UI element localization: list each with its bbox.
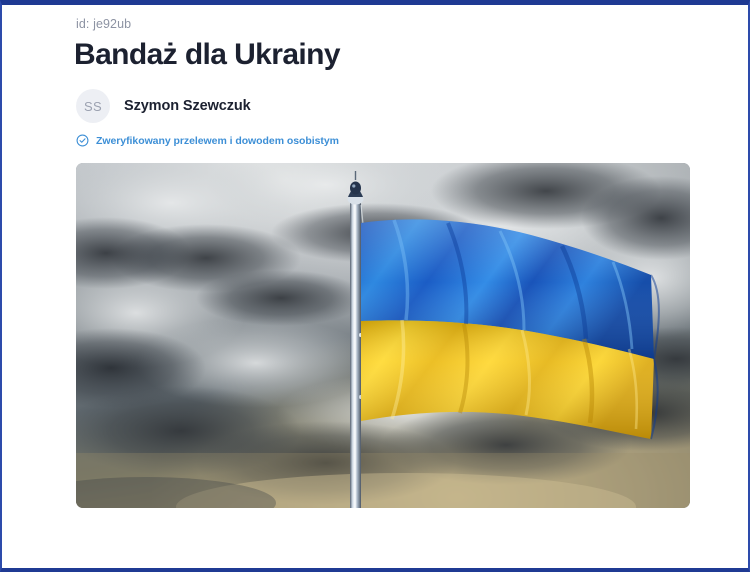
avatar: SS (76, 89, 110, 123)
check-circle-icon (76, 134, 89, 147)
hero-image[interactable] (76, 163, 690, 508)
fundraiser-content: id: je92ub Bandaż dla Ukrainy SS Szymon … (74, 15, 694, 508)
page-title: Bandaż dla Ukrainy (74, 35, 694, 75)
verification-text: Zweryfikowany przelewem i dowodem osobis… (96, 135, 339, 147)
page-frame: id: je92ub Bandaż dla Ukrainy SS Szymon … (0, 0, 750, 572)
author-name: Szymon Szewczuk (124, 98, 251, 114)
ukraine-flag-photo (76, 163, 690, 508)
author-row[interactable]: SS Szymon Szewczuk (76, 89, 694, 123)
status-badge: Zweryfikowany przelewem i dowodem osobis… (76, 134, 694, 147)
fundraiser-id: id: je92ub (76, 15, 694, 33)
